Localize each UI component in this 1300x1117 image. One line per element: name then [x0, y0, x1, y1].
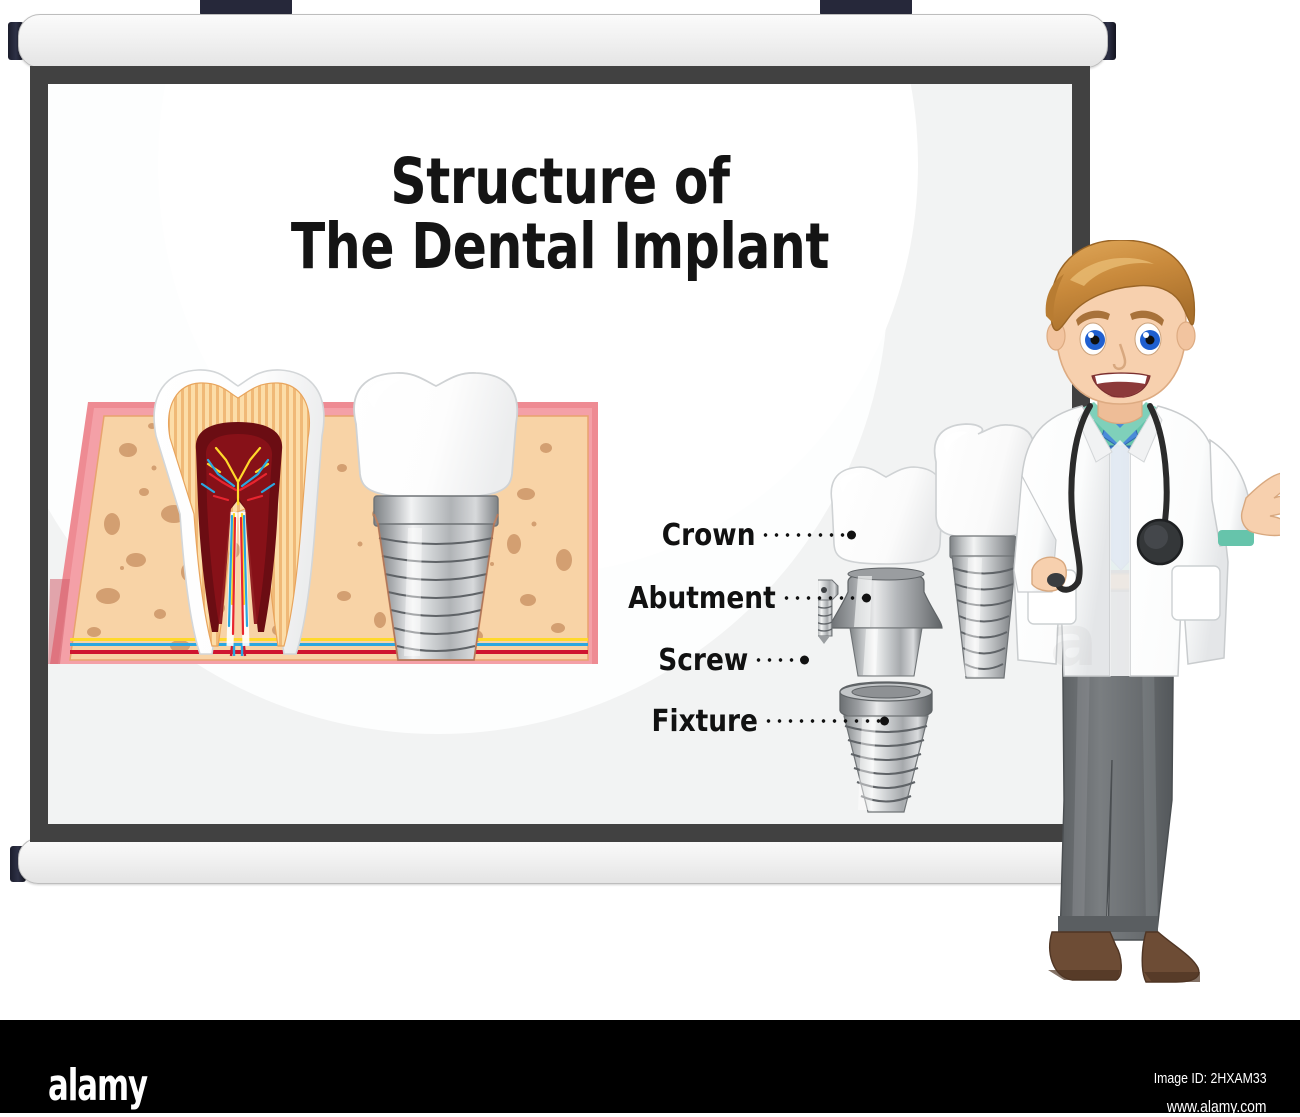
leader-dot-crown	[847, 531, 856, 540]
callout-label-screw: Screw	[658, 643, 748, 678]
coat-cuff-right	[1218, 530, 1254, 546]
alamy-logo: alamy	[48, 1060, 147, 1111]
callout-screw: Screw	[48, 641, 805, 679]
callout-label-abutment: Abutment	[628, 581, 776, 616]
title-line-1: Structure of	[150, 150, 969, 215]
page-title: Structure of The Dental Implant	[150, 150, 969, 280]
coat-pocket-right	[1172, 566, 1220, 620]
leader-dot-screw	[800, 656, 809, 665]
leader-line-fixture	[763, 719, 885, 723]
leader-dot-fixture	[880, 717, 889, 726]
stethoscope-earpiece	[1047, 573, 1065, 587]
callout-label-crown: Crown	[661, 518, 755, 553]
doctor-head	[1046, 240, 1195, 404]
doctor-character	[960, 240, 1280, 1020]
image-id-text: Image ID: 2HXAM33	[1154, 1070, 1267, 1087]
presentation-screen: a Structure of The Dental Implant	[48, 84, 1072, 824]
leader-dot-abutment	[862, 594, 871, 603]
screen-roller-top[interactable]	[18, 14, 1108, 68]
doctor-hand-right	[1242, 473, 1280, 536]
callout-abutment: Abutment	[48, 579, 867, 617]
alamy-url-text: www.alamy.com	[1167, 1097, 1267, 1117]
callout-crown: Crown	[48, 516, 852, 554]
callout-label-fixture: Fixture	[652, 704, 758, 739]
leader-line-crown	[760, 533, 852, 537]
alamy-footer: alamy Image ID: 2HXAM33 www.alamy.com	[0, 1020, 1300, 1113]
screen-roller-bottom[interactable]	[18, 838, 1108, 884]
title-line-2: The Dental Implant	[150, 215, 969, 280]
doctor-lab-coat	[1014, 406, 1254, 676]
slide-stage: a Structure of The Dental Implant	[0, 0, 1300, 1020]
leader-line-abutment	[781, 596, 867, 600]
leader-line-screw	[753, 658, 805, 662]
callout-fixture: Fixture	[48, 702, 885, 740]
